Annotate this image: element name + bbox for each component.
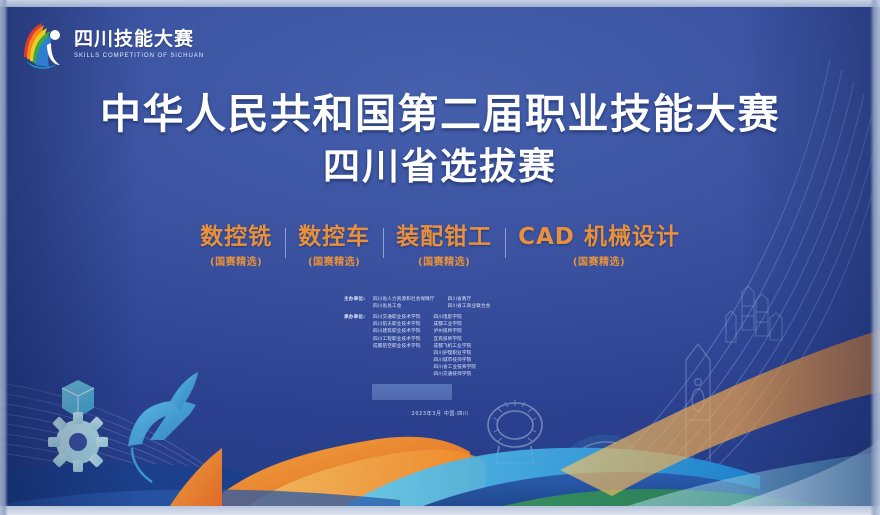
category-name: 数控铣 [200, 224, 272, 250]
undertaker-row: 承办单位: 四川交通职业技术学院 四川航天职业技术学院 四川建筑职业技术学院 四… [344, 314, 559, 378]
category-sub: (国赛精选) [298, 253, 370, 268]
undertaker-column-1: 四川交通职业技术学院 四川航天职业技术学院 四川建筑职业技术学院 四川工程职业技… [373, 314, 420, 378]
category-name: CAD 机械设计 [518, 224, 680, 250]
main-title-line2: 四川省选拔赛 [0, 144, 880, 190]
redaction-block [372, 384, 452, 400]
host-column-1: 四川省人力资源和社会保障厅 四川省总工会 [373, 296, 435, 310]
undertaker-item: 成都飞机工业学院 [433, 343, 476, 350]
host-item: 四川省教厅 [448, 296, 491, 303]
logo-title-en: SKILLS COMPETITION OF SICHUAN [74, 53, 204, 59]
undertaker-item: 四川省工业技师学院 [433, 364, 476, 371]
undertaker-item: 四川电影学院 [433, 314, 476, 321]
host-item: 四川省人力资源和社会保障厅 [373, 296, 435, 303]
undertaker-item: 泸州技师学院 [433, 328, 476, 335]
undertaker-label: 承办单位: [344, 314, 373, 378]
date-location-line: 2023年3月 中国·四川 [0, 410, 880, 417]
undertaker-item: 四川工程职业技术学院 [373, 336, 420, 343]
board-frame-right [870, 0, 880, 515]
host-label: 主办单位: [344, 296, 373, 310]
board-frame-bottom [0, 506, 880, 515]
category-name: 数控车 [298, 224, 370, 250]
undertaker-item: 四川护理职业学院 [433, 350, 476, 357]
logo-title-cn: 四川技能大赛 [74, 30, 204, 49]
sichuan-skills-wave-mark-icon [18, 19, 68, 71]
undertaker-item: 四川航天职业技术学院 [373, 321, 420, 328]
category-name: 装配钳工 [396, 224, 492, 250]
organizer-block: 主办单位: 四川省人力资源和社会保障厅 四川省总工会 四川省教厅 四川省工商业联… [344, 296, 559, 382]
undertaker-item: 四川交通职业技术学院 [373, 314, 420, 321]
undertaker-item: 四川建筑职业技术学院 [373, 328, 420, 335]
undertaker-column-2: 四川电影学院 成都工业学院 泸州技师学院 宜宾技师学院 成都飞机工业学院 四川护… [433, 314, 476, 378]
undertaker-item: 成都航空职业技术学院 [373, 343, 420, 350]
host-item: 四川省工商业联合会 [448, 303, 491, 310]
category-item: 数控车 (国赛精选) [285, 224, 383, 268]
main-title-line1: 中华人民共和国第二届职业技能大赛 [0, 90, 880, 138]
undertaker-item: 成都工业学院 [433, 321, 476, 328]
board-frame-left [0, 0, 8, 515]
undertaker-item: 四川城市技师学院 [433, 357, 476, 364]
category-item: 数控铣 (国赛精选) [187, 224, 285, 268]
host-row: 主办单位: 四川省人力资源和社会保障厅 四川省总工会 四川省教厅 四川省工商业联… [344, 296, 559, 310]
undertaker-item: 宜宾技师学院 [433, 336, 476, 343]
undertaker-item: 四川交通技师学院 [433, 371, 476, 378]
banner-title-block: 中华人民共和国第二届职业技能大赛 四川省选拔赛 [0, 90, 880, 191]
category-sub: (国赛精选) [396, 253, 492, 268]
category-sub: (国赛精选) [518, 253, 680, 268]
board-frame-top [0, 0, 880, 7]
category-sub: (国赛精选) [200, 253, 272, 268]
category-item: 装配钳工 (国赛精选) [383, 224, 505, 268]
category-item: CAD 机械设计 (国赛精选) [505, 224, 693, 268]
host-column-2: 四川省教厅 四川省工商业联合会 [448, 296, 491, 310]
host-item: 四川省总工会 [373, 303, 435, 310]
event-logo: 四川技能大赛 SKILLS COMPETITION OF SICHUAN [18, 14, 198, 76]
category-list: 数控铣 (国赛精选) 数控车 (国赛精选) 装配钳工 (国赛精选) CAD 机械… [0, 224, 880, 268]
competition-backdrop-banner: 四川技能大赛 SKILLS COMPETITION OF SICHUAN 中华人… [0, 0, 880, 515]
